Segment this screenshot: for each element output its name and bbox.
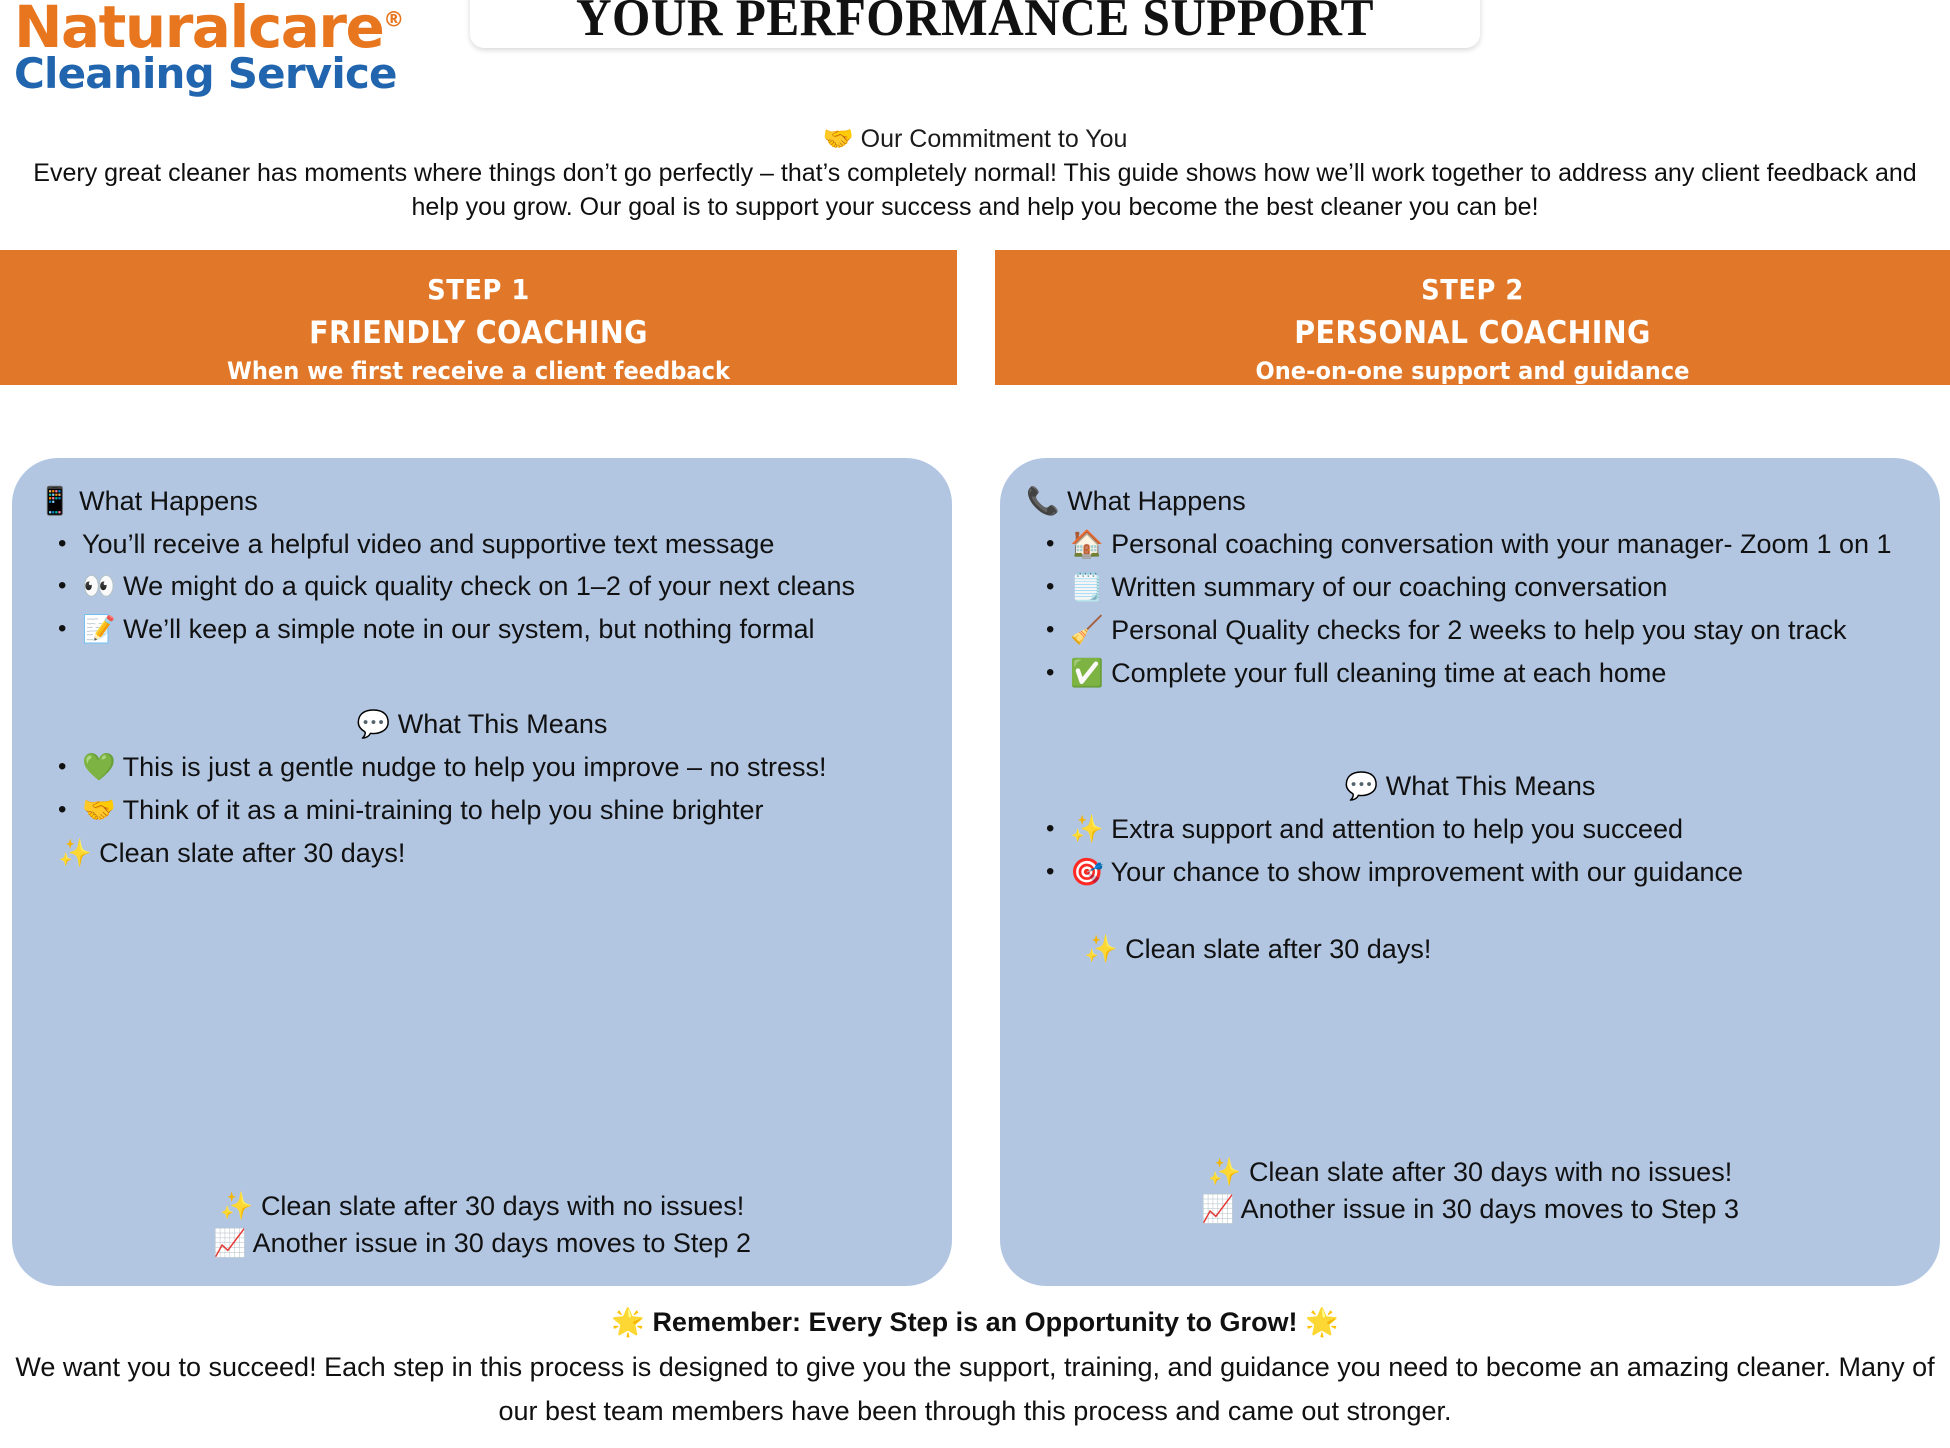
- logo-wordmark: Naturalcare®: [14, 0, 403, 58]
- item-text: Think of it as a mini-training to help y…: [123, 795, 764, 825]
- heading-text: What This Means: [1386, 771, 1596, 801]
- step-2-what-happens-heading: 📞 What Happens: [1026, 482, 1914, 521]
- sparkles-icon: ✨: [220, 1191, 254, 1222]
- eyes-icon: 👀: [82, 571, 116, 602]
- spacer: [38, 651, 926, 705]
- chart-increasing-icon: 📈: [1201, 1194, 1235, 1225]
- glowing-star-icon: 🌟: [611, 1307, 645, 1338]
- commitment-heading-text: Our Commitment to You: [861, 125, 1128, 153]
- list-item: 🏠 Personal coaching conversation with yo…: [1026, 523, 1914, 566]
- commitment-block: 🤝 Our Commitment to You Every great clea…: [0, 122, 1950, 224]
- step-1-label: STEP 1: [38, 268, 918, 312]
- step-1-what-happens-heading: 📱 What Happens: [38, 482, 926, 521]
- step-1-what-this-means-list: 💚 This is just a gentle nudge to help yo…: [38, 746, 926, 832]
- step-1-what-this-means-heading: 💬 What This Means: [38, 705, 926, 744]
- footer-text: Another issue in 30 days moves to Step 2: [253, 1228, 751, 1258]
- heading-text: What Happens: [1067, 486, 1246, 516]
- step-1-subtitle: When we first receive a client feedback: [29, 354, 929, 388]
- spacer: [1026, 894, 1914, 928]
- mobile-phone-icon: 📱: [38, 486, 72, 517]
- heading-text: What This Means: [398, 709, 608, 739]
- list-item: 🎯 Your chance to show improvement with o…: [1026, 851, 1914, 894]
- list-item: 🧹 Personal Quality checks for 2 weeks to…: [1026, 609, 1914, 652]
- item-text: You’ll receive a helpful video and suppo…: [82, 529, 774, 559]
- handshake-icon: 🤝: [823, 124, 854, 153]
- page-title: YOUR PERFORMANCE SUPPORT: [505, 0, 1444, 48]
- item-text: This is just a gentle nudge to help you …: [123, 752, 827, 782]
- list-item: 📝 We’ll keep a simple note in our system…: [38, 608, 926, 651]
- step-1-banner: STEP 1 FRIENDLY COACHING When we first r…: [0, 250, 957, 385]
- footer-heading-text: Remember: Every Step is an Opportunity t…: [652, 1307, 1297, 1337]
- footer-text: Clean slate after 30 days with no issues…: [1249, 1157, 1732, 1187]
- logo-main-text: Naturalcare: [14, 0, 383, 61]
- list-item: 🤝 Think of it as a mini-training to help…: [38, 789, 926, 832]
- step-2-footer-line-2: 📈 Another issue in 30 days moves to Step…: [1026, 1191, 1914, 1228]
- page-header: Naturalcare® Cleaning Service YOUR PERFO…: [0, 0, 1950, 120]
- green-heart-icon: 💚: [82, 752, 116, 783]
- step-2-what-this-means-list: ✨ Extra support and attention to help yo…: [1026, 808, 1914, 894]
- footer-body: We want you to succeed! Each step in thi…: [0, 1345, 1950, 1433]
- item-text: Written summary of our coaching conversa…: [1111, 572, 1667, 602]
- step-2-subtitle: One-on-one support and guidance: [1024, 354, 1922, 388]
- footer-heading: 🌟 Remember: Every Step is an Opportunity…: [0, 1300, 1950, 1345]
- commitment-heading: 🤝 Our Commitment to You: [0, 122, 1950, 156]
- speech-balloon-icon: 💬: [357, 709, 391, 740]
- step-banners: STEP 1 FRIENDLY COACHING When we first r…: [0, 250, 1950, 385]
- list-item: You’ll receive a helpful video and suppo…: [38, 523, 926, 565]
- step-2-clean-slate-note: ✨ Clean slate after 30 days!: [1026, 928, 1914, 971]
- broom-icon: 🧹: [1070, 615, 1104, 646]
- item-text: Personal Quality checks for 2 weeks to h…: [1111, 615, 1846, 645]
- step-2-name: PERSONAL COACHING: [1033, 312, 1912, 354]
- item-text: Complete your full cleaning time at each…: [1111, 658, 1666, 688]
- step-2-card: 📞 What Happens 🏠 Personal coaching conve…: [1000, 458, 1940, 1286]
- performance-support-page: Naturalcare® Cleaning Service YOUR PERFO…: [0, 0, 1950, 1448]
- sparkles-icon: ✨: [1084, 934, 1118, 965]
- step-2-card-footer: ✨ Clean slate after 30 days with no issu…: [1026, 1154, 1914, 1228]
- step-2-what-this-means-heading: 💬 What This Means: [1026, 767, 1914, 806]
- list-item: 👀 We might do a quick quality check on 1…: [38, 565, 926, 608]
- list-item: ✨ Extra support and attention to help yo…: [1026, 808, 1914, 851]
- bullseye-icon: 🎯: [1070, 857, 1104, 888]
- check-mark-button-icon: ✅: [1070, 658, 1104, 689]
- step-1-footer-line-1: ✨ Clean slate after 30 days with no issu…: [38, 1188, 926, 1225]
- registered-trademark-icon: ®: [383, 8, 403, 32]
- page-footer: 🌟 Remember: Every Step is an Opportunity…: [0, 1300, 1950, 1433]
- house-icon: 🏠: [1070, 529, 1104, 560]
- step-1-name: FRIENDLY COACHING: [38, 312, 918, 354]
- spiral-notepad-icon: 🗒️: [1070, 572, 1104, 603]
- item-text: Your chance to show improvement with our…: [1111, 857, 1743, 887]
- chart-increasing-icon: 📈: [213, 1228, 247, 1259]
- item-text: We’ll keep a simple note in our system, …: [123, 614, 814, 644]
- handshake-icon: 🤝: [82, 795, 116, 826]
- step-1-card-footer: ✨ Clean slate after 30 days with no issu…: [38, 1188, 926, 1262]
- step-2-footer-line-1: ✨ Clean slate after 30 days with no issu…: [1026, 1154, 1914, 1191]
- sparkles-icon: ✨: [1070, 814, 1104, 845]
- list-item: 💚 This is just a gentle nudge to help yo…: [38, 746, 926, 789]
- memo-icon: 📝: [82, 614, 116, 645]
- step-cards: 📱 What Happens You’ll receive a helpful …: [0, 458, 1950, 1286]
- item-text: Extra support and attention to help you …: [1111, 814, 1683, 844]
- sparkles-icon: ✨: [58, 838, 92, 869]
- note-text: Clean slate after 30 days!: [99, 838, 405, 868]
- note-text: Clean slate after 30 days!: [1125, 934, 1431, 964]
- step-2-label: STEP 2: [1033, 268, 1912, 312]
- step-1-clean-slate-note: ✨ Clean slate after 30 days!: [38, 832, 926, 875]
- commitment-body: Every great cleaner has moments where th…: [10, 156, 1940, 224]
- item-text: We might do a quick quality check on 1–2…: [123, 571, 855, 601]
- step-2-what-happens-list: 🏠 Personal coaching conversation with yo…: [1026, 523, 1914, 695]
- list-item: 🗒️ Written summary of our coaching conve…: [1026, 566, 1914, 609]
- sparkles-icon: ✨: [1208, 1157, 1242, 1188]
- footer-text: Clean slate after 30 days with no issues…: [261, 1191, 744, 1221]
- heading-text: What Happens: [79, 486, 258, 516]
- glowing-star-icon: 🌟: [1305, 1307, 1339, 1338]
- spacer: [1026, 749, 1914, 767]
- item-text: Personal coaching conversation with your…: [1111, 529, 1891, 559]
- step-2-banner: STEP 2 PERSONAL COACHING One-on-one supp…: [995, 250, 1950, 385]
- step-1-card: 📱 What Happens You’ll receive a helpful …: [12, 458, 952, 1286]
- telephone-receiver-icon: 📞: [1026, 486, 1060, 517]
- spacer: [1026, 695, 1914, 749]
- step-1-what-happens-list: You’ll receive a helpful video and suppo…: [38, 523, 926, 651]
- company-logo: Naturalcare® Cleaning Service: [14, 0, 484, 96]
- list-item: ✅ Complete your full cleaning time at ea…: [1026, 652, 1914, 695]
- speech-balloon-icon: 💬: [1345, 771, 1379, 802]
- step-1-footer-line-2: 📈 Another issue in 30 days moves to Step…: [38, 1225, 926, 1262]
- footer-text: Another issue in 30 days moves to Step 3: [1241, 1194, 1739, 1224]
